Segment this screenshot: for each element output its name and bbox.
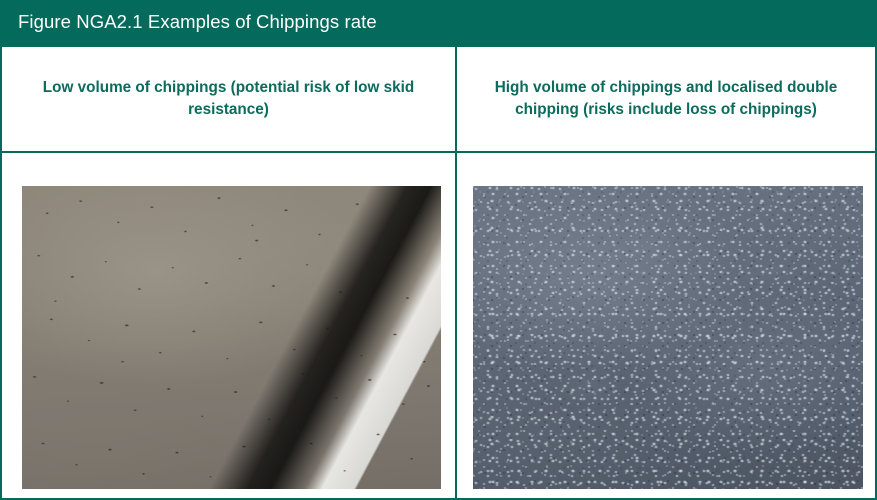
caption-text-low: Low volume of chippings (potential risk … — [16, 77, 441, 120]
caption-cell-low: Low volume of chippings (potential risk … — [2, 47, 455, 151]
caption-text-high: High volume of chippings and localised d… — [473, 77, 859, 120]
caption-cell-high: High volume of chippings and localised d… — [457, 47, 875, 151]
high-chippings-aggregate-layer-3 — [473, 186, 863, 489]
image-cell-high — [457, 153, 875, 498]
low-chippings-photo — [22, 186, 441, 489]
high-chippings-photo — [473, 186, 863, 489]
image-cell-low — [2, 153, 455, 498]
figure-header-bar: Figure NGA2.1 Examples of Chippings rate — [0, 0, 877, 47]
figure-container: Figure NGA2.1 Examples of Chippings rate… — [0, 0, 877, 500]
low-chippings-texture-layer-3 — [22, 186, 441, 489]
figure-title: Figure NGA2.1 Examples of Chippings rate — [18, 11, 377, 33]
